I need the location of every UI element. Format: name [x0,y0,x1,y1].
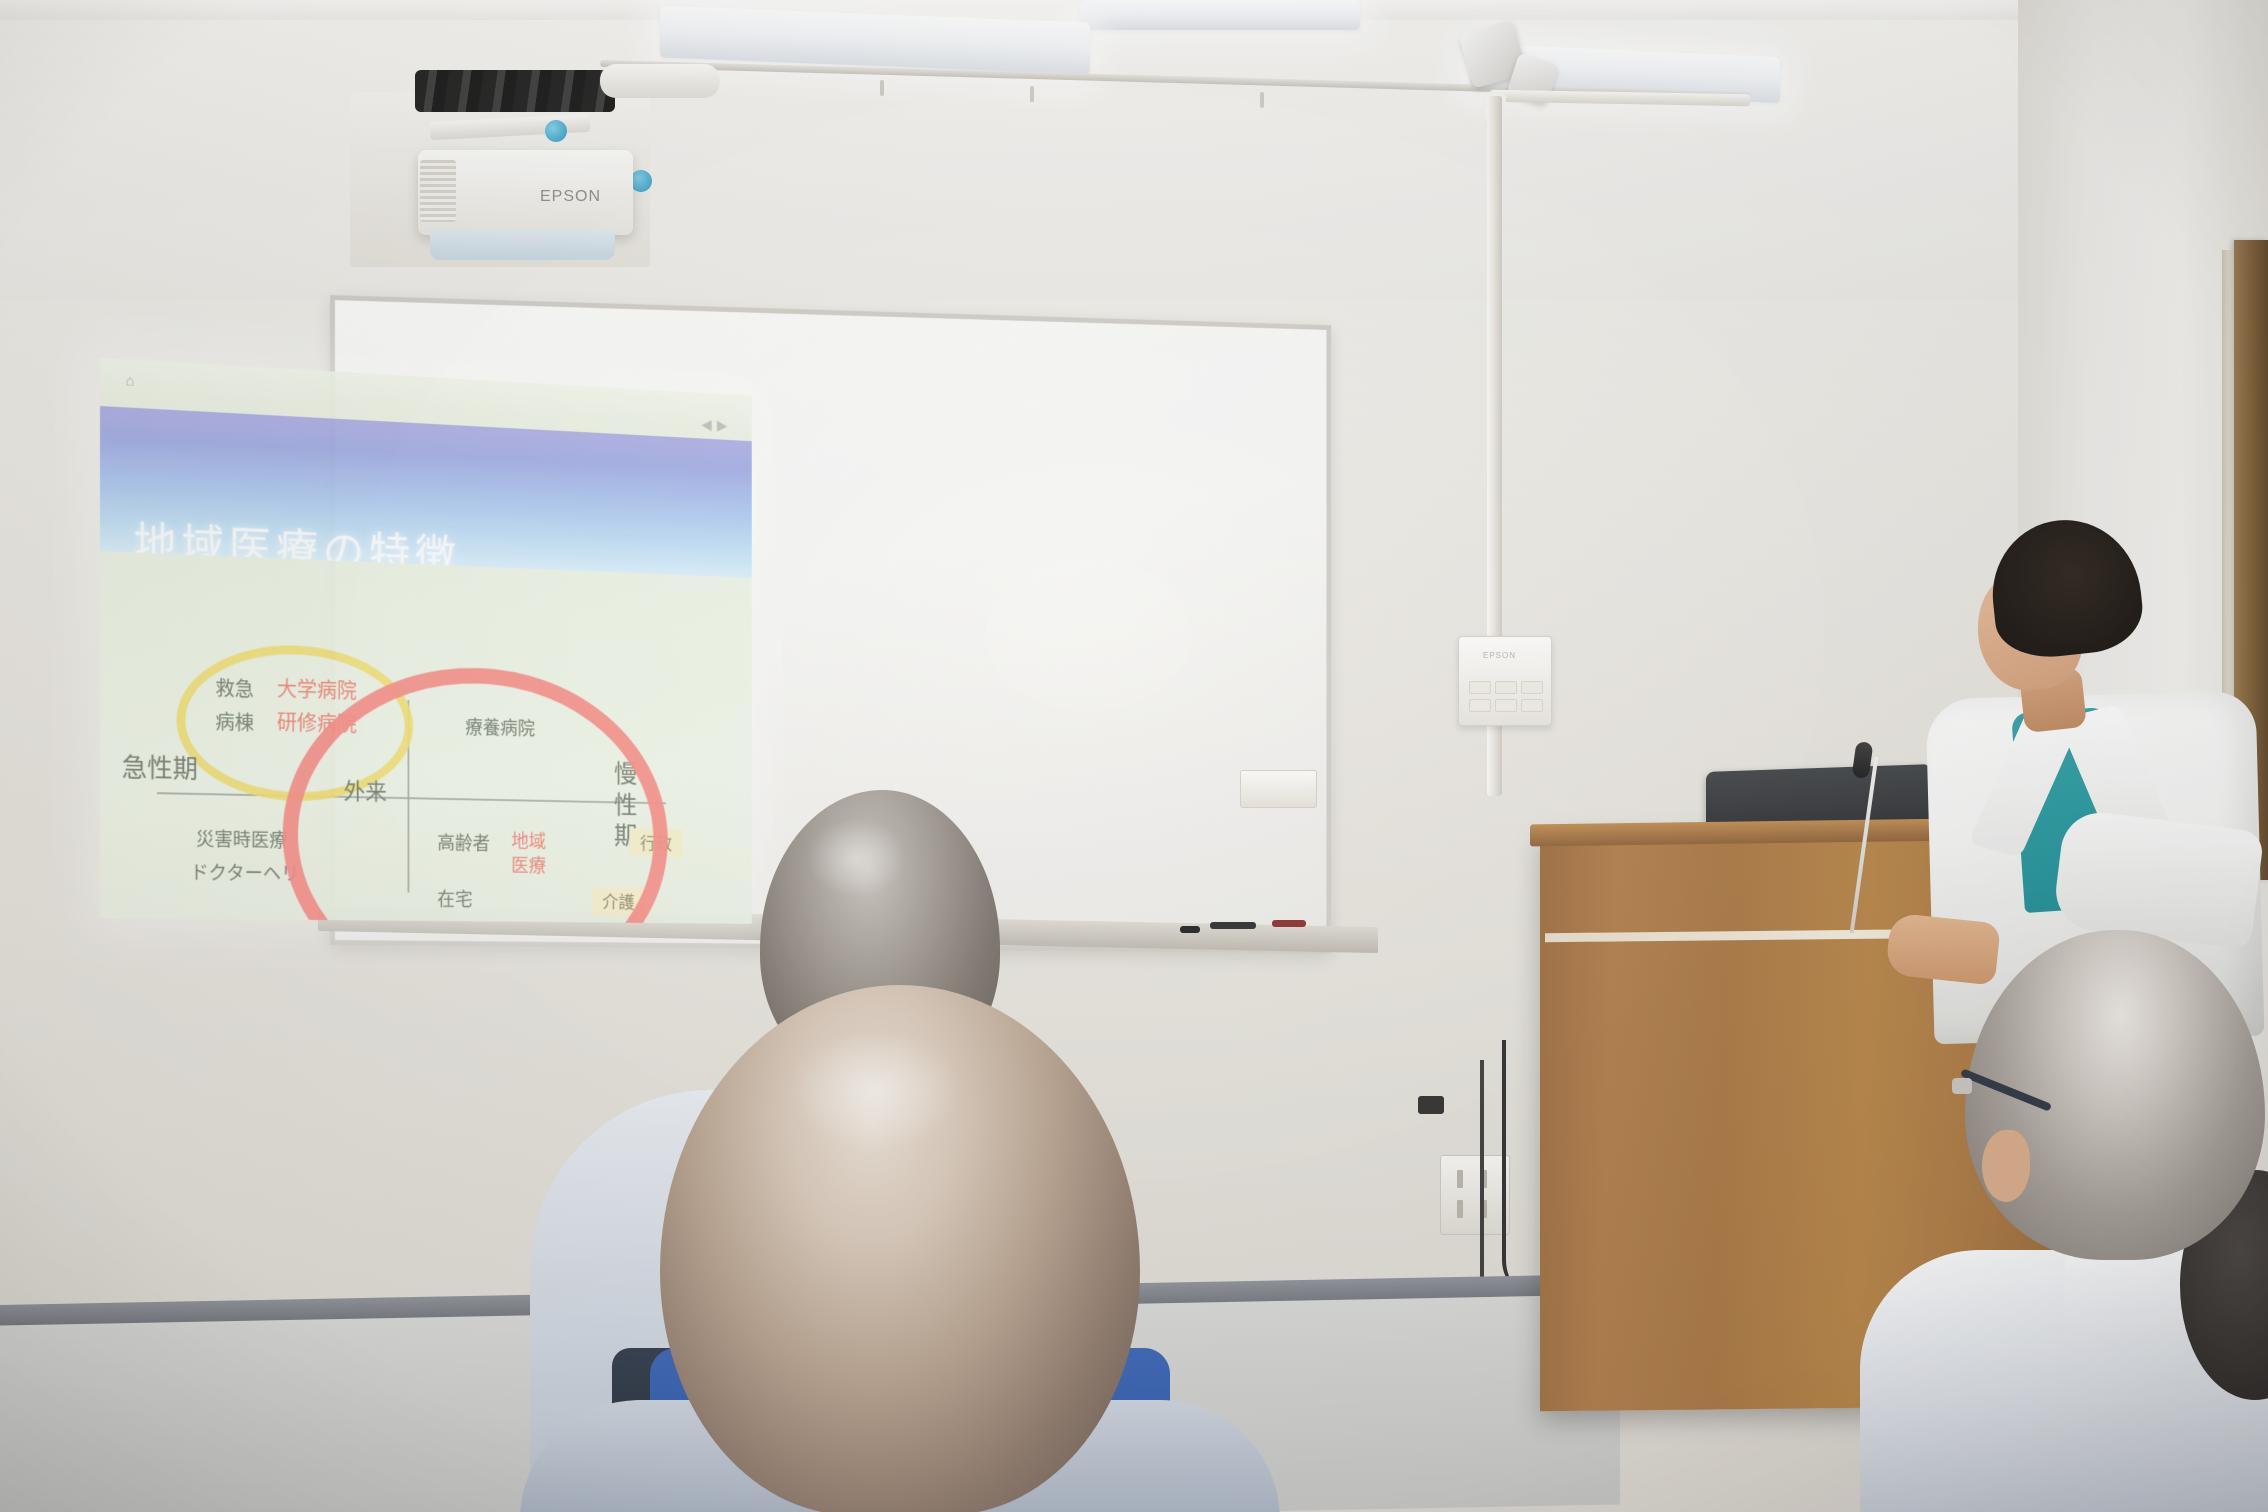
ceiling-hook [1030,86,1034,102]
projector-knob-icon [630,170,652,192]
home-icon[interactable]: ⌂ [126,373,143,389]
scalp-highlight [790,1030,960,1150]
slide-nav-controls[interactable]: ◀▶ [701,416,732,435]
projected-slide: ⌂ ◀▶ 地域医療の特徴 救急 病棟 大学病院 研修病院 療養病院 急性期 慢性… [100,358,752,924]
wall-panel-button[interactable] [1495,681,1517,694]
wall-panel-button[interactable] [1469,699,1491,712]
label-kyukyu: 救急 [215,673,254,703]
red-marker[interactable] [1272,920,1306,927]
wall-control-panel[interactable]: EPSON [1458,636,1552,726]
projector-brand-label: EPSON [540,188,601,206]
wall-panel-button[interactable] [1469,681,1491,694]
black-marker[interactable] [1210,922,1256,929]
fluorescent-fixture-top [1080,0,1360,30]
projector-cable-bundle [415,70,615,112]
slide-diagram: 救急 病棟 大学病院 研修病院 療養病院 急性期 慢性期 外来 災害時医療 ドク… [100,551,752,924]
label-byoto: 病棟 [215,706,254,736]
label-daigaku-byoin: 大学病院 [277,672,357,704]
presenter-hand [1885,912,2001,985]
next-slide-icon[interactable]: ▶ [717,418,732,435]
label-doctor-heli: ドクターヘリ [190,858,299,886]
outlet-slot [1457,1200,1463,1218]
hair-highlight [806,818,906,898]
cable-clip [1418,1096,1444,1114]
ceiling-hook [1260,92,1264,108]
projection-screen-area: ⌂ ◀▶ 地域医療の特徴 救急 病棟 大学病院 研修病院 療養病院 急性期 慢性… [100,358,752,924]
audience-ear [1982,1130,2030,1202]
prev-slide-icon[interactable]: ◀ [701,417,717,434]
lecture-room-photo: EPSON ⌂ ◀▶ 地域医療の特徴 救急 病棟 大学病院 [0,0,2268,1512]
wall-panel-brand-label: EPSON [1483,651,1516,660]
wall-panel-button[interactable] [1495,699,1517,712]
wall-panel-button[interactable] [1521,681,1543,694]
wall-panel-button[interactable] [1521,699,1543,712]
ceiling-hook [880,80,884,96]
eraser[interactable] [1180,926,1200,933]
presenter-arm [2052,808,2265,949]
label-kyuseiki: 急性期 [122,748,198,787]
projector-knob-icon [545,120,567,142]
projector-vent [420,160,456,222]
upper-wall [0,0,2268,300]
eyeglasses-hinge-icon [1952,1078,1972,1094]
outlet-slot [1457,1170,1463,1188]
projector-cable-white [600,64,720,98]
presenter-hair [1985,513,2146,663]
wall-junction-box [1240,770,1317,808]
label-saigaiji-iryo: 災害時医療 [196,825,288,853]
projector-lens [430,230,615,260]
